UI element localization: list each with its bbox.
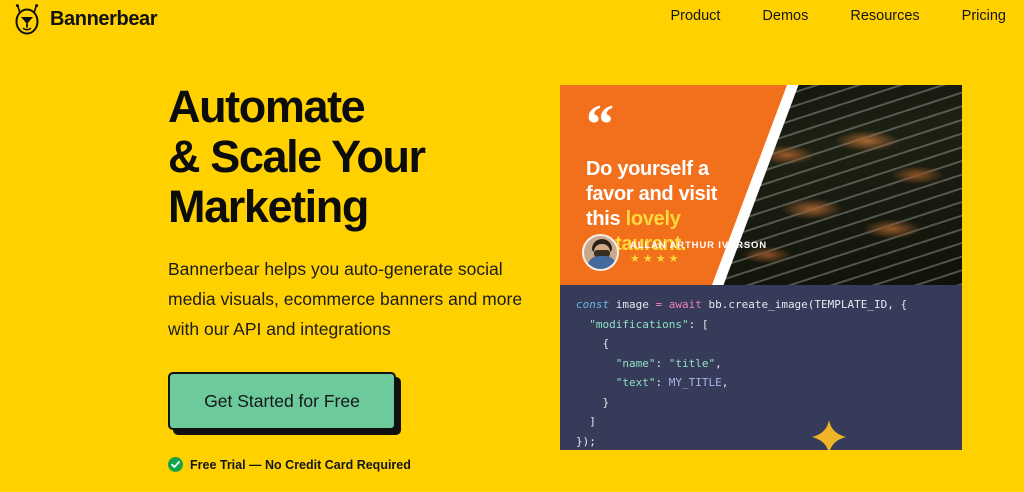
code-snippet-panel: const image = await bb.create_image(TEMP… [560,285,962,450]
headline-line-1: Automate [168,82,538,132]
code-punct-3: : [656,357,669,370]
code-punct-1: : [ [689,318,709,331]
author-name: ALLAN ARTHUR IVERSON [630,240,767,251]
quote-line-2: favor and visit [586,183,717,205]
star-icon-4: ★ [669,254,679,265]
star-icon-1: ★ [630,254,640,265]
trial-note-text: Free Trial — No Credit Card Required [190,458,411,472]
star-icon-2: ★ [643,254,653,265]
quote-line-1: Do yourself a [586,158,709,180]
testimonial-banner: “ Do yourself a favor and visit this lov… [560,85,962,285]
code-key-name: "name" [616,357,656,370]
code-punct-7: } [603,396,610,409]
cta-container: Get Started for Free [168,372,538,430]
hero-subheadline: Bannerbear helps you auto-generate socia… [168,254,528,344]
nav-item-product[interactable]: Product [670,8,720,24]
code-punct-9: }); [576,435,596,448]
star-icon-3: ★ [656,254,666,265]
code-punct-2: { [603,337,610,350]
headline-line-3: Marketing [168,182,538,232]
code-punct-5: : [656,376,669,389]
avatar [582,234,619,271]
rating-stars: ★ ★ ★ ★ [630,254,767,265]
bear-head-icon [12,3,42,35]
code-punct-4: , [715,357,722,370]
code-call-create-image: bb.create_image(TEMPLATE_ID, { [708,298,907,311]
quote-line-3-highlight: lovely [626,208,681,230]
code-var-image: image [609,298,655,311]
check-circle-icon [168,457,183,472]
headline-line-2: & Scale Your [168,132,538,182]
code-value-my-title: MY_TITLE [669,376,722,389]
nav-item-pricing[interactable]: Pricing [962,8,1006,24]
author-row: ALLAN ARTHUR IVERSON ★ ★ ★ ★ [582,234,767,271]
hero-content: Automate & Scale Your Marketing Bannerbe… [168,82,538,472]
quote-mark-icon: “ [586,109,796,141]
code-keyword-await: await [662,298,708,311]
brand-name: Bannerbear [50,8,157,31]
code-keyword-const: const [576,298,609,311]
get-started-button[interactable]: Get Started for Free [168,372,396,430]
nav-item-resources[interactable]: Resources [850,8,919,24]
quote-line-3-plain: this [586,208,626,230]
code-key-modifications: "modifications" [589,318,688,331]
trial-note-row: Free Trial — No Credit Card Required [168,457,538,472]
main-navigation: Product Demos Resources Pricing [670,8,1006,24]
nav-item-demos[interactable]: Demos [762,8,808,24]
code-punct-8: ] [589,415,596,428]
code-value-title: "title" [669,357,715,370]
code-punct-6: , [722,376,729,389]
landing-page: Bannerbear Product Demos Resources Prici… [0,0,1024,492]
author-meta: ALLAN ARTHUR IVERSON ★ ★ ★ ★ [630,240,767,265]
sparkle-icon [812,420,846,450]
code-key-text: "text" [616,376,656,389]
brand-logo-link[interactable]: Bannerbear [12,3,157,35]
product-showcase-card: “ Do yourself a favor and visit this lov… [560,85,962,450]
code-snippet: const image = await bb.create_image(TEMP… [576,295,907,450]
page-title: Automate & Scale Your Marketing [168,82,538,232]
site-header: Bannerbear Product Demos Resources Prici… [0,0,1024,44]
